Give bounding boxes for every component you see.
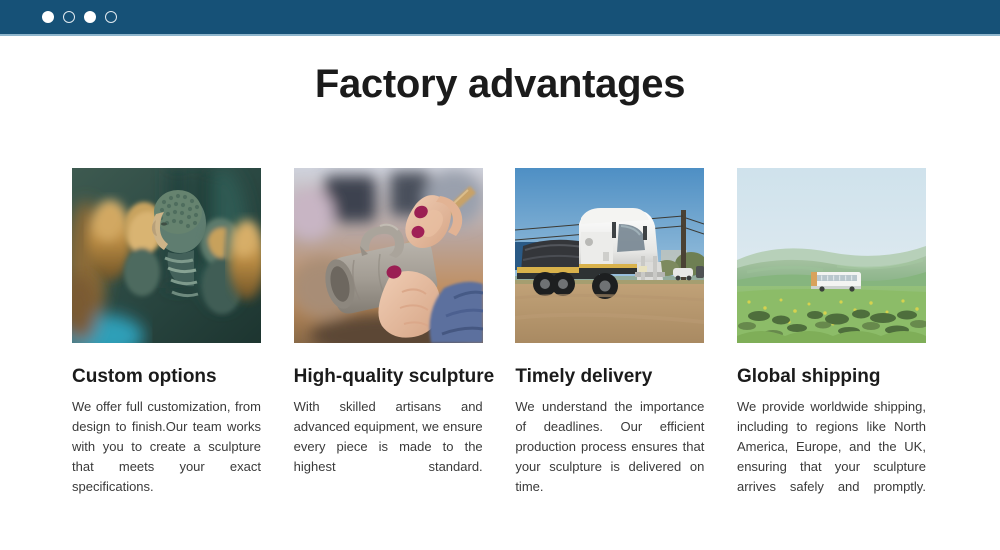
carousel-dot-1[interactable] bbox=[42, 11, 54, 23]
advantage-card-high-quality-sculpture[interactable]: High-quality sculpture With skilled arti… bbox=[294, 168, 483, 517]
buddha-statues-image bbox=[72, 168, 261, 343]
bus-grassland-illustration bbox=[737, 168, 926, 343]
clay-mug-image bbox=[294, 168, 483, 343]
advantage-card-timely-delivery[interactable]: Timely delivery We understand the import… bbox=[515, 168, 704, 517]
advantages-card-grid: Custom options We offer full customizati… bbox=[72, 168, 926, 517]
page-title: Factory advantages bbox=[0, 62, 1000, 107]
carousel-dot-3[interactable] bbox=[84, 11, 96, 23]
advantage-card-custom-options[interactable]: Custom options We offer full customizati… bbox=[72, 168, 261, 517]
advantage-card-title: Global shipping bbox=[737, 367, 926, 388]
advantage-card-body: We understand the importance of deadline… bbox=[515, 397, 704, 517]
advantage-card-title: High-quality sculpture bbox=[294, 367, 483, 388]
advantage-card-title: Custom options bbox=[72, 367, 261, 388]
clay-mug-illustration bbox=[294, 168, 483, 343]
carousel-dots[interactable] bbox=[42, 11, 117, 23]
carousel-dot-2[interactable] bbox=[63, 11, 75, 23]
buddha-statues-illustration bbox=[72, 168, 261, 343]
advantage-card-body: We offer full customization, from design… bbox=[72, 397, 261, 517]
delivery-truck-illustration bbox=[515, 168, 704, 343]
top-bar bbox=[0, 0, 1000, 34]
advantage-card-body: We provide worldwide shipping, including… bbox=[737, 397, 926, 517]
advantage-card-body: With skilled artisans and advanced equip… bbox=[294, 397, 483, 497]
top-bar-underline bbox=[0, 34, 1000, 36]
bus-grassland-image bbox=[737, 168, 926, 343]
delivery-truck-image bbox=[515, 168, 704, 343]
carousel-dot-4[interactable] bbox=[105, 11, 117, 23]
advantage-card-title: Timely delivery bbox=[515, 367, 704, 388]
advantage-card-global-shipping[interactable]: Global shipping We provide worldwide shi… bbox=[737, 168, 926, 517]
